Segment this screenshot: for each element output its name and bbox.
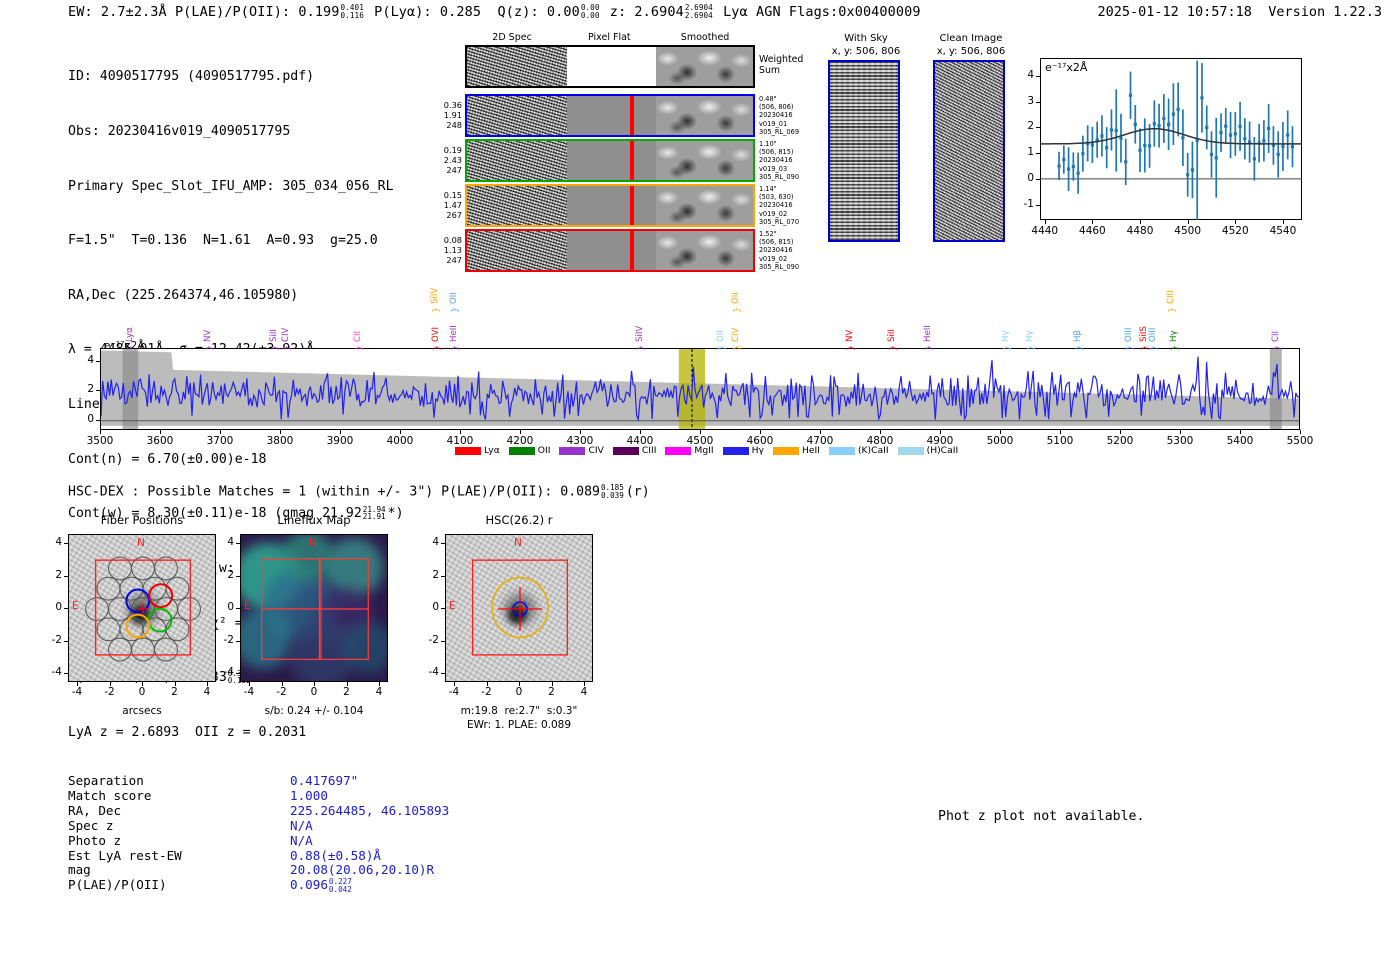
emission-line-markers: Lyα{NV{SiII{CIV{CII{OVI{SiIV{HeII{OII{Si… [100, 278, 1300, 350]
emission-line-brace: { [923, 345, 933, 351]
fiber-strip [465, 229, 755, 272]
spectrum-x-tick-label: 3600 [138, 435, 182, 447]
hsc-y-tick [236, 576, 240, 577]
emission-line-label: SiIV [430, 278, 440, 304]
emission-line-marker [630, 186, 634, 225]
emission-line-brace: { [887, 345, 897, 351]
y-tick [1036, 76, 1040, 77]
info-id: ID: 4090517795 (4090517795.pdf) [68, 68, 404, 86]
fiber-weight-labels: 0.36 1.91 248 [430, 100, 462, 130]
hsc-panel-image [240, 534, 388, 682]
info-primary-spec: Primary Spec_Slot_IFU_AMP: 305_034_056_R… [68, 178, 404, 196]
hsc-panel-title: Fiber Positions [58, 513, 226, 527]
compass-north-label: N [309, 537, 317, 549]
emission-line-label: SiII [269, 316, 279, 342]
spectrum-x-tick-label: 3900 [318, 435, 362, 447]
match-table-row: Match score1.000 [68, 789, 449, 804]
emission-line-brace: { [1148, 345, 1158, 351]
legend-label: Hγ [752, 445, 764, 456]
emission-line-label: HeII [923, 316, 933, 342]
hsc-panel-image [445, 534, 593, 682]
emission-line-brace: { [731, 307, 741, 313]
x-tick-label: 4520 [1220, 225, 1250, 237]
hsc-x-tick [487, 682, 488, 686]
hsc-x-tick-label: -4 [62, 686, 92, 698]
hsc-x-tick-label: 4 [364, 686, 394, 698]
legend-label: (K)CaII [858, 445, 889, 456]
fiber-strip [465, 94, 755, 137]
x-tick [1235, 220, 1236, 224]
match-table-key: Est LyA rest-EW [68, 849, 290, 864]
y-tick [1036, 205, 1040, 206]
qz-bounds: 0.000.00 [581, 4, 600, 19]
match-table-key: Match score [68, 789, 290, 804]
hsc-y-tick [64, 641, 68, 642]
legend-label: OII [538, 445, 551, 456]
hsc-x-tick-label: -4 [439, 686, 469, 698]
info-obs: Obs: 20230416v019_4090517795 [68, 123, 404, 141]
emission-line-label: SiIV [635, 316, 645, 342]
hsc-y-tick-label: -4 [419, 666, 439, 678]
compass-north-label: N [137, 537, 145, 549]
emission-line-label: Hγ [1169, 316, 1179, 342]
spectrum-y-tick [96, 390, 100, 391]
x-tick-label: 4480 [1125, 225, 1155, 237]
hsc-x-tick [77, 682, 78, 686]
photz-unavailable-message: Phot z plot not available. [938, 809, 1144, 824]
legend-swatch [665, 447, 691, 455]
emission-line-label: OII [731, 278, 741, 304]
match-table-value: 0.0960.2270.042 [290, 878, 354, 893]
inset-flux-unit: e⁻¹⁷x2Å [1045, 61, 1087, 74]
hsc-headline-filter: (r) [626, 485, 650, 500]
emission-line-brace: { [1073, 345, 1083, 351]
x-tick [1140, 220, 1141, 224]
hsc-x-tick [207, 682, 208, 686]
emission-line-brace: { [449, 307, 459, 313]
emission-line-brace: { [635, 345, 645, 351]
legend-swatch [723, 447, 749, 455]
match-table-key: P(LAE)/P(OII) [68, 878, 290, 893]
hsc-panel-title: HSC(26.2) r [435, 513, 603, 527]
x-tick-label: 4540 [1268, 225, 1298, 237]
hsc-x-tick-label: 2 [160, 686, 190, 698]
cutout-name: Clean Image [935, 32, 1007, 45]
spectrum-x-tick [1060, 430, 1061, 434]
x-tick [1045, 220, 1046, 224]
hsc-x-tick-label: -2 [267, 686, 297, 698]
hsc-x-tick-label: 0 [299, 686, 329, 698]
header-z: z: 2.6904 [610, 4, 684, 20]
match-properties-table: Separation0.417697"Match score1.000RA, D… [68, 774, 449, 894]
spectrum-y-tick-label: 4 [76, 354, 94, 366]
hsc-y-tick [64, 608, 68, 609]
spectrum-legend: LyαOIICIVCIIIMgIIHγHeII(K)CaII(H)CaII [455, 445, 958, 456]
cutout-title: With Skyx, y: 506, 806 [830, 32, 902, 58]
match-table-value: 0.88(±0.58)Å [290, 849, 381, 864]
spec2d-col-title: Pixel Flat [588, 32, 631, 43]
spectrum-x-tick [700, 430, 701, 434]
hsc-y-tick [441, 673, 445, 674]
spectrum-x-tick [280, 430, 281, 434]
spectrum-y-tick-label: 2 [76, 383, 94, 395]
emission-line-brace: { [731, 345, 741, 351]
y-tick-label: 1 [1014, 146, 1034, 158]
hsc-y-tick-label: -2 [42, 634, 62, 646]
hsc-x-tick [282, 682, 283, 686]
emission-line-label: OII [449, 278, 459, 304]
hsc-y-tick [441, 641, 445, 642]
hsc-panel-image [68, 534, 216, 682]
plae-bounds: 0.4010.116 [341, 4, 364, 19]
weighted-sum-label: Weighted Sum [759, 54, 803, 76]
hsc-panel-title: Lineflux Map [230, 513, 398, 527]
spectrum-x-tick [760, 430, 761, 434]
hsc-y-tick-label: 4 [42, 536, 62, 548]
match-table-value: 225.264485, 46.105893 [290, 804, 449, 819]
hsc-y-tick [441, 576, 445, 577]
spectrum-x-tick-label: 4000 [378, 435, 422, 447]
legend-item: MgII [665, 445, 713, 456]
emission-line-brace: { [1166, 307, 1176, 313]
hsc-x-tick [110, 682, 111, 686]
emission-line-brace: { [1124, 345, 1134, 351]
hsc-y-tick-label: 2 [42, 569, 62, 581]
spectrum-x-tick-label: 3500 [78, 435, 122, 447]
emission-line-label: OIII [1124, 316, 1134, 342]
legend-swatch [773, 447, 799, 455]
match-table-value: 1.000 [290, 789, 328, 804]
fiber-meta-labels: 0.48" (506, 806) 20230416 v019_01 305_RL… [759, 95, 799, 136]
emission-line-label: NV [845, 316, 855, 342]
hsc-y-tick-label: 2 [214, 569, 234, 581]
hsc-y-tick-label: -4 [214, 666, 234, 678]
spectrum-y-tick [96, 361, 100, 362]
match-table-row: Separation0.417697" [68, 774, 449, 789]
spectrum-x-axis: 0243500360037003800390040004100420043004… [100, 348, 1300, 430]
match-table-key: Spec z [68, 819, 290, 834]
hsc-y-tick [441, 608, 445, 609]
emission-line-brace: { [353, 345, 363, 351]
spec2d-col-title: 2D Spec [492, 32, 532, 43]
compass-east-label: E [244, 600, 251, 612]
spectrum-x-tick-label: 5000 [978, 435, 1022, 447]
legend-label: CIII [642, 445, 657, 456]
spectrum-x-tick [1180, 430, 1181, 434]
hsc-y-tick [236, 543, 240, 544]
cutout-image [933, 60, 1005, 242]
legend-item: (K)CaII [829, 445, 889, 456]
hsc-y-tick-label: -2 [419, 634, 439, 646]
emission-line-marker [630, 96, 634, 135]
legend-swatch [509, 447, 535, 455]
hsc-y-tick [236, 641, 240, 642]
emission-line-label: CIV [281, 316, 291, 342]
header-summary-line: EW: 2.7±2.3Å P(LAE)/P(OII): 0.1990.4010.… [68, 4, 921, 20]
legend-swatch [898, 447, 924, 455]
spectrum-x-tick [520, 430, 521, 434]
spectrum-x-tick-label: 3800 [258, 435, 302, 447]
spectrum-x-tick-label: 5200 [1098, 435, 1142, 447]
y-tick [1036, 179, 1040, 180]
hsc-headline-text: HSC-DEX : Possible Matches = 1 (within +… [68, 485, 600, 500]
legend-item: Lyα [455, 445, 500, 456]
y-tick-label: 3 [1014, 95, 1034, 107]
spectrum-x-tick [220, 430, 221, 434]
compass-north-label: N [514, 537, 522, 549]
fiber-meta-labels: 1.10" (506, 815) 20230416 v019_03 305_RL… [759, 140, 799, 181]
emission-line-label: Hβ [1073, 316, 1083, 342]
match-table-value: 0.417697" [290, 774, 358, 789]
spectrum-x-tick [1000, 430, 1001, 434]
spectrum-x-tick [880, 430, 881, 434]
match-table-value: N/A [290, 834, 313, 849]
hsc-y-tick-label: 0 [42, 601, 62, 613]
header-qz: Q(z): 0.00 [498, 4, 580, 20]
emission-line-brace: { [716, 345, 726, 351]
match-table-row: P(LAE)/P(OII)0.0960.2270.042 [68, 878, 449, 893]
match-table-value: 20.08(20.06,20.10)R [290, 863, 434, 878]
y-tick [1036, 153, 1040, 154]
match-table-key: Photo z [68, 834, 290, 849]
hsc-dex-headline: HSC-DEX : Possible Matches = 1 (within +… [68, 484, 650, 500]
hsc-y-tick-label: 4 [214, 536, 234, 548]
hsc-y-tick [441, 543, 445, 544]
cutout-image [828, 60, 900, 242]
x-tick-label: 4500 [1173, 225, 1203, 237]
spectrum-x-tick-label: 5100 [1038, 435, 1082, 447]
spectrum-x-tick [820, 430, 821, 434]
hsc-x-tick [379, 682, 380, 686]
match-table-key: RA, Dec [68, 804, 290, 819]
header-plya: P(Lyα): 0.285 [374, 4, 481, 20]
hsc-x-tick [175, 682, 176, 686]
hsc-y-tick-label: 2 [419, 569, 439, 581]
legend-label: Lyα [484, 445, 500, 456]
legend-label: HeII [802, 445, 820, 456]
y-tick-label: 0 [1014, 172, 1034, 184]
hsc-x-tick [552, 682, 553, 686]
hsc-y-tick-label: 4 [419, 536, 439, 548]
match-table-row: RA, Dec225.264485, 46.105893 [68, 804, 449, 819]
cutout-coords: x, y: 506, 806 [935, 45, 1007, 58]
legend-item: HeII [773, 445, 820, 456]
timestamp: 2025-01-12 10:57:18 [1098, 4, 1252, 20]
emission-line-label: OVI [431, 316, 441, 342]
emission-line-brace: { [1169, 345, 1179, 351]
legend-item: Hγ [723, 445, 764, 456]
emission-line-brace: { [430, 307, 440, 313]
emission-line-label: Hγ [1025, 316, 1035, 342]
hsc-y-tick-label: 0 [214, 601, 234, 613]
compass-east-label: E [72, 600, 79, 612]
match-table-row: mag20.08(20.06,20.10)R [68, 863, 449, 878]
hsc-x-tick-label: -2 [95, 686, 125, 698]
emission-line-label: CIII [1166, 278, 1176, 304]
emission-line-marker [630, 231, 634, 270]
hsc-x-tick-label: 2 [332, 686, 362, 698]
x-tick-label: 4460 [1077, 225, 1107, 237]
hsc-x-tick-label: -4 [234, 686, 264, 698]
fiber-weight-labels: 0.08 1.13 247 [430, 235, 462, 265]
emission-line-brace: { [1001, 345, 1011, 351]
cutout-coords: x, y: 506, 806 [830, 45, 902, 58]
x-tick [1283, 220, 1284, 224]
hsc-y-tick [236, 608, 240, 609]
hsc-y-tick [64, 673, 68, 674]
cutout-name: With Sky [830, 32, 902, 45]
info-redshifts: LyA z = 2.6893 OII z = 0.2031 [68, 724, 404, 742]
spectrum-x-tick [1120, 430, 1121, 434]
y-tick-label: -1 [1014, 198, 1034, 210]
header-ew-plae: EW: 2.7±2.3Å P(LAE)/P(OII): 0.199 [68, 4, 340, 20]
match-table-row: Est LyA rest-EW0.88(±0.58)Å [68, 849, 449, 864]
fiber-meta-labels: 1.52" (506, 815) 20230416 v019_02 305_RL… [759, 230, 799, 271]
hsc-y-tick [64, 543, 68, 544]
hsc-x-tick-label: 0 [127, 686, 157, 698]
legend-item: OII [509, 445, 551, 456]
spectrum-x-tick [580, 430, 581, 434]
header-timestamp-version: 2025-01-12 10:57:18 Version 1.22.3 [1098, 4, 1383, 20]
emission-line-brace: { [1025, 345, 1035, 351]
hsc-x-tick [584, 682, 585, 686]
y-tick [1036, 127, 1040, 128]
hsc-x-tick [314, 682, 315, 686]
hsc-x-tick-label: 2 [537, 686, 567, 698]
emission-line-label: HeII [449, 316, 459, 342]
legend-item: (H)CaII [898, 445, 959, 456]
hsc-x-tick-label: 4 [569, 686, 599, 698]
fiber-weight-labels: 0.15 1.47 267 [430, 190, 462, 220]
match-table-value: N/A [290, 819, 313, 834]
hsc-y-tick-label: -2 [214, 634, 234, 646]
z-bounds: 2.69042.6904 [685, 4, 713, 19]
emission-line-brace: { [845, 345, 855, 351]
spectrum-x-tick [340, 430, 341, 434]
spectrum-x-tick [1300, 430, 1301, 434]
emission-line-label: CII [1271, 316, 1281, 342]
y-tick-label: 2 [1014, 120, 1034, 132]
emission-line-label: NV [203, 316, 213, 342]
spectrum-x-tick [1240, 430, 1241, 434]
hsc-y-tick-label: 0 [419, 601, 439, 613]
legend-item: CIV [559, 445, 603, 456]
match-table-row: Spec zN/A [68, 819, 449, 834]
hsc-y-tick-label: -4 [42, 666, 62, 678]
emission-line-brace: { [269, 345, 279, 351]
fiber-strip [465, 184, 755, 227]
spectrum-x-tick-label: 3700 [198, 435, 242, 447]
legend-swatch [829, 447, 855, 455]
hsc-x-tick-label: -2 [472, 686, 502, 698]
hsc-x-tick-label: 4 [192, 686, 222, 698]
cutout-title: Clean Imagex, y: 506, 806 [935, 32, 1007, 58]
emission-line-brace: { [1271, 345, 1281, 351]
match-table-key: Separation [68, 774, 290, 789]
emission-line-label: Hγ [1001, 316, 1011, 342]
x-tick [1188, 220, 1189, 224]
hsc-x-tick [142, 682, 143, 686]
header-classification: Lyα AGN Flags:0x00400009 [723, 4, 920, 20]
hsc-plae-bounds: 0.1850.039 [601, 484, 624, 499]
line-fit-inset-chart: e⁻¹⁷x2Å444044604480450045204540-101234 [1040, 58, 1302, 220]
spectrum-y-tick [96, 420, 100, 421]
x-tick [1092, 220, 1093, 224]
spectrum-x-tick [400, 430, 401, 434]
compass-east-label: E [449, 600, 456, 612]
match-table-row: Photo zN/A [68, 834, 449, 849]
spectrum-x-tick [640, 430, 641, 434]
emission-line-label: OIII [1148, 316, 1158, 342]
hsc-panel-caption: m:19.8 re:2.7" s:0.3" EWr: 1. PLAE: 0.08… [415, 704, 623, 732]
hsc-x-tick [249, 682, 250, 686]
spectrum-flux-unit: e⁻¹⁷x2Å [104, 340, 145, 352]
match-plae-bounds: 0.2270.042 [329, 878, 352, 893]
fiber-strip [465, 139, 755, 182]
y-tick-label: 4 [1014, 69, 1034, 81]
legend-swatch [559, 447, 585, 455]
emission-line-label: SiII [887, 316, 897, 342]
spectrum-x-tick-label: 5300 [1158, 435, 1202, 447]
legend-label: (H)CaII [927, 445, 959, 456]
spectrum-x-tick [100, 430, 101, 434]
x-tick-label: 4440 [1030, 225, 1060, 237]
legend-label: MgII [694, 445, 713, 456]
hsc-y-tick [64, 576, 68, 577]
emission-line-brace: { [449, 345, 459, 351]
emission-line-label: CII [353, 316, 363, 342]
match-table-key: mag [68, 863, 290, 878]
emission-line-brace: { [431, 345, 441, 351]
y-tick [1036, 102, 1040, 103]
legend-swatch [455, 447, 481, 455]
emission-line-brace: { [281, 345, 291, 351]
emission-line-brace: { [203, 345, 213, 351]
emission-line-label: OII [716, 316, 726, 342]
spectrum-x-tick [160, 430, 161, 434]
legend-swatch [613, 447, 639, 455]
hsc-x-tick-label: 0 [504, 686, 534, 698]
hsc-x-tick [454, 682, 455, 686]
spectrum-x-tick-label: 5500 [1278, 435, 1322, 447]
spectrum-y-tick-label: 0 [76, 413, 94, 425]
legend-item: CIII [613, 445, 657, 456]
weighted-sum-strip [465, 45, 755, 88]
fiber-weight-labels: 0.19 2.43 247 [430, 145, 462, 175]
fiber-meta-labels: 1.14" (503, 630) 20230416 v019_02 305_RL… [759, 185, 799, 226]
spectrum-x-tick [940, 430, 941, 434]
emission-line-label: CIV [731, 316, 741, 342]
hsc-x-tick [347, 682, 348, 686]
legend-label: CIV [588, 445, 603, 456]
spectrum-x-tick-label: 5400 [1218, 435, 1262, 447]
info-params: F=1.5" T=0.136 N=1.61 A=0.93 g=25.0 [68, 232, 404, 250]
hsc-x-tick [519, 682, 520, 686]
version: Version 1.22.3 [1268, 4, 1382, 20]
hsc-y-tick [236, 673, 240, 674]
emission-line-label: Lyα [125, 316, 135, 342]
info-cont-n: Cont(n) = 6.70(±0.00)e-18 [68, 451, 404, 469]
spectrum-x-tick [460, 430, 461, 434]
emission-line-marker [630, 141, 634, 180]
hsc-panel-caption: s/b: 0.24 +/- 0.104 [210, 704, 418, 718]
plae-lower: 0.042 [329, 886, 352, 894]
spec2d-col-title: Smoothed [681, 32, 730, 43]
